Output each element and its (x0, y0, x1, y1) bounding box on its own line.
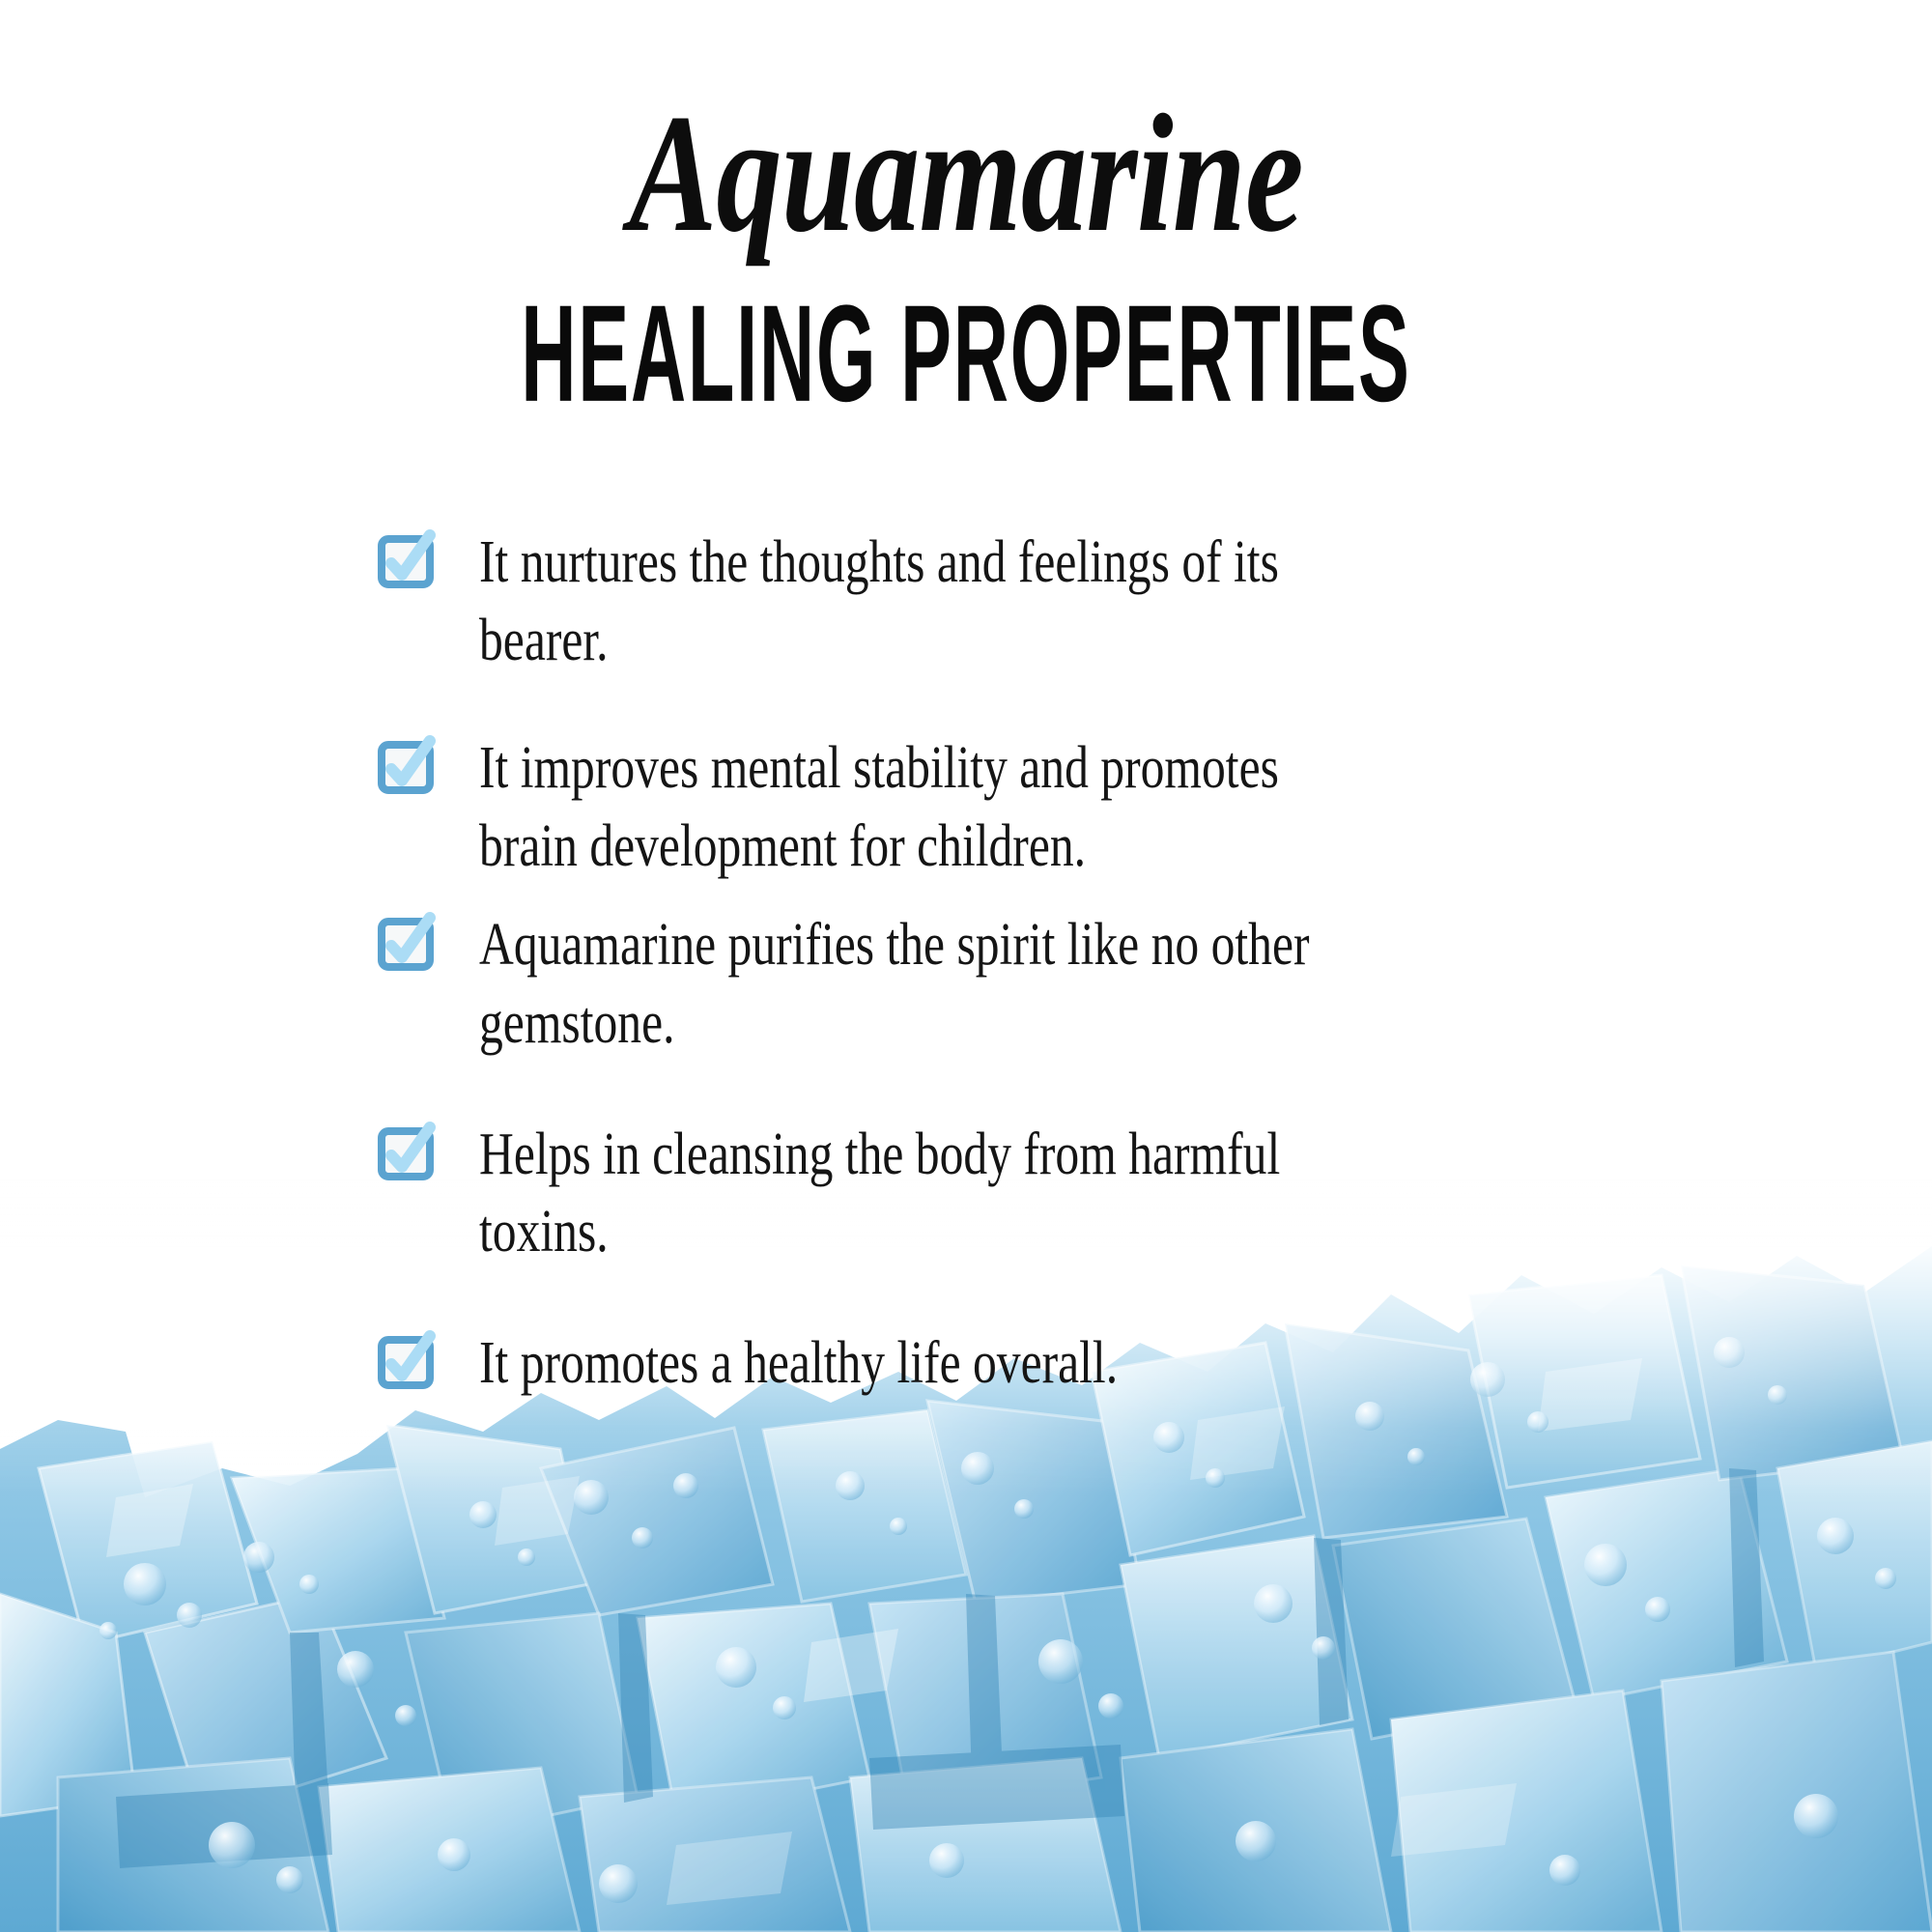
list-item: Helps in cleansing the body from harmful… (379, 1116, 1596, 1271)
list-item: It promotes a healthy life overall. (379, 1324, 1596, 1403)
list-item-label: It nurtures the thoughts and feelings of… (479, 524, 1373, 679)
spacer (379, 1063, 1596, 1116)
list-item-label: It promotes a healthy life overall. (479, 1324, 1373, 1403)
checked-checkbox-icon (379, 1122, 439, 1181)
list-item-label: It improves mental stability and promote… (479, 729, 1373, 885)
list-item: It improves mental stability and promote… (379, 729, 1596, 885)
checked-checkbox-icon (379, 1330, 439, 1390)
spacer (379, 679, 1596, 729)
list-item: Aquamarine purifies the spirit like no o… (379, 906, 1596, 1062)
poster-canvas: Aquamarine HEALING PROPERTIES It nurture… (0, 0, 1932, 1932)
header: Aquamarine HEALING PROPERTIES (0, 0, 1932, 412)
page-title: Aquamarine (213, 89, 1719, 258)
list-item-label: Helps in cleansing the body from harmful… (479, 1116, 1373, 1271)
checked-checkbox-icon (379, 735, 439, 795)
healing-properties-list: It nurtures the thoughts and feelings of… (379, 524, 1596, 1402)
list-item-label: Aquamarine purifies the spirit like no o… (479, 906, 1373, 1062)
spacer (379, 885, 1596, 906)
list-item: It nurtures the thoughts and feelings of… (379, 524, 1596, 679)
checked-checkbox-icon (379, 529, 439, 589)
page-subtitle: HEALING PROPERTIES (386, 285, 1546, 423)
checked-checkbox-icon (379, 912, 439, 972)
spacer (379, 1271, 1596, 1324)
